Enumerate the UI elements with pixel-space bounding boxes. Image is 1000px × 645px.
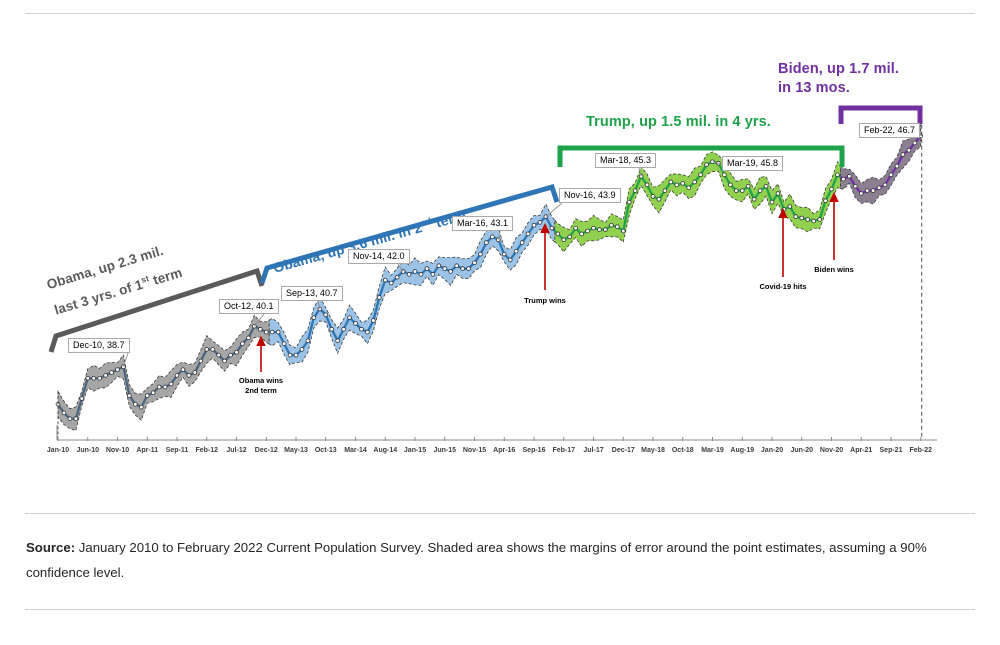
data-point-marker bbox=[752, 197, 756, 201]
event-label-line-1: Obama wins bbox=[239, 376, 283, 386]
event-biden-wins-label: Biden wins bbox=[814, 265, 854, 275]
data-point-marker bbox=[235, 350, 239, 354]
data-point-marker bbox=[734, 189, 738, 193]
data-point-marker bbox=[389, 281, 393, 285]
point-label-nov-14: Nov-14, 42.0 bbox=[348, 249, 410, 264]
point-label-mar-19: Mar-19, 45.8 bbox=[722, 156, 783, 171]
data-point-marker bbox=[895, 164, 899, 168]
data-point-marker bbox=[443, 267, 447, 271]
x-axis-label: Dec-12 bbox=[255, 447, 278, 455]
data-point-marker bbox=[127, 394, 131, 398]
data-point-marker bbox=[431, 272, 435, 276]
data-point-marker bbox=[609, 223, 613, 227]
data-point-marker bbox=[621, 229, 625, 233]
data-point-marker bbox=[479, 252, 483, 256]
data-point-marker bbox=[889, 173, 893, 177]
x-axis-label: Oct-13 bbox=[315, 447, 337, 455]
data-point-marker bbox=[217, 353, 221, 357]
x-axis-label: Jan-10 bbox=[47, 447, 69, 455]
event-label-line-2: 2nd term bbox=[239, 386, 283, 396]
data-point-marker bbox=[645, 183, 649, 187]
bracket-biden bbox=[841, 108, 920, 124]
data-point-marker bbox=[877, 186, 881, 190]
data-point-marker bbox=[788, 205, 792, 209]
data-point-marker bbox=[728, 183, 732, 187]
source-text: January 2010 to February 2022 Current Po… bbox=[26, 540, 927, 580]
data-point-marker bbox=[366, 330, 370, 334]
x-axis-label: Mar-14 bbox=[344, 447, 367, 455]
x-axis-label: Nov-10 bbox=[106, 447, 129, 455]
data-point-marker bbox=[776, 192, 780, 196]
event-trump-wins-label: Trump wins bbox=[524, 296, 566, 306]
x-axis-label: May-13 bbox=[284, 447, 308, 455]
data-point-marker bbox=[562, 238, 566, 242]
point-label-feb-22: Feb-22, 46.7 bbox=[859, 123, 920, 138]
data-point-marker bbox=[437, 264, 441, 268]
data-point-marker bbox=[705, 163, 709, 167]
data-point-marker bbox=[383, 278, 387, 282]
data-point-marker bbox=[883, 183, 887, 187]
data-point-marker bbox=[86, 376, 90, 380]
data-point-marker bbox=[699, 173, 703, 177]
x-axis-label: Feb-17 bbox=[552, 447, 575, 455]
data-point-marker bbox=[580, 232, 584, 236]
data-point-marker bbox=[675, 183, 679, 187]
data-point-marker bbox=[300, 348, 304, 352]
data-point-marker bbox=[467, 267, 471, 271]
x-axis-label: Jul-12 bbox=[226, 447, 246, 455]
data-point-marker bbox=[407, 272, 411, 276]
data-point-marker bbox=[853, 184, 857, 188]
data-point-marker bbox=[264, 330, 268, 334]
x-axis-label: Jan-20 bbox=[761, 447, 783, 455]
data-point-marker bbox=[657, 197, 661, 201]
data-point-marker bbox=[312, 316, 316, 320]
point-label-mar-18: Mar-18, 45.3 bbox=[595, 153, 656, 168]
x-axis-label: Jan-15 bbox=[404, 447, 426, 455]
x-axis-label: May-18 bbox=[641, 447, 665, 455]
data-point-marker bbox=[193, 371, 197, 375]
data-point-marker bbox=[907, 148, 911, 152]
data-point-marker bbox=[187, 373, 191, 377]
data-point-marker bbox=[485, 241, 489, 245]
data-point-marker bbox=[901, 153, 905, 157]
data-point-marker bbox=[241, 342, 245, 346]
data-point-marker bbox=[104, 373, 108, 377]
data-point-marker bbox=[211, 348, 215, 352]
data-point-marker bbox=[490, 235, 494, 239]
data-point-marker bbox=[627, 200, 631, 204]
annotation-line-1: Biden, up 1.7 mil. bbox=[778, 60, 899, 79]
data-point-marker bbox=[782, 207, 786, 211]
x-axis-label: Jun-20 bbox=[790, 447, 813, 455]
data-point-marker bbox=[693, 180, 697, 184]
divider-middle bbox=[25, 513, 975, 514]
x-axis-label: Dec-17 bbox=[612, 447, 635, 455]
data-point-marker bbox=[419, 272, 423, 276]
data-point-marker bbox=[258, 327, 262, 331]
data-point-marker bbox=[371, 319, 375, 323]
x-axis-label: Sep-21 bbox=[880, 447, 903, 455]
chart-canvas: Obama, up 2.3 mil. last 3 yrs. of 1st te… bbox=[0, 0, 1000, 500]
data-point-marker bbox=[532, 223, 536, 227]
data-point-marker bbox=[526, 232, 530, 236]
x-axis-label: Aug-14 bbox=[373, 447, 397, 455]
event-obama-wins-label: Obama wins2nd term bbox=[239, 376, 283, 395]
x-axis-label: Jul-17 bbox=[583, 447, 603, 455]
data-point-marker bbox=[818, 218, 822, 222]
event-label-line-1: Covid-19 hits bbox=[759, 282, 806, 292]
data-point-marker bbox=[746, 184, 750, 188]
point-label-nov-16: Nov-16, 43.9 bbox=[559, 188, 621, 203]
data-point-marker bbox=[74, 417, 78, 421]
data-point-marker bbox=[395, 275, 399, 279]
data-point-marker bbox=[847, 174, 851, 178]
data-point-marker bbox=[859, 192, 863, 196]
data-point-marker bbox=[800, 216, 804, 220]
x-axis-label: Nov-15 bbox=[463, 447, 486, 455]
data-point-marker bbox=[473, 261, 477, 265]
data-point-marker bbox=[568, 235, 572, 239]
data-point-marker bbox=[461, 267, 465, 271]
data-point-marker bbox=[145, 394, 149, 398]
data-point-marker bbox=[175, 373, 179, 377]
data-point-marker bbox=[449, 270, 453, 274]
data-point-marker bbox=[723, 173, 727, 177]
data-point-marker bbox=[62, 411, 66, 415]
data-point-marker bbox=[80, 397, 84, 401]
x-axis bbox=[57, 425, 937, 441]
data-point-marker bbox=[586, 229, 590, 233]
data-point-marker bbox=[354, 322, 358, 326]
data-point-marker bbox=[336, 339, 340, 343]
data-point-marker bbox=[223, 359, 227, 363]
data-point-marker bbox=[455, 264, 459, 268]
event-label-line-1: Trump wins bbox=[524, 296, 566, 306]
point-label-dec-10: Dec-10, 38.7 bbox=[68, 338, 130, 353]
data-point-marker bbox=[169, 382, 173, 386]
data-point-marker bbox=[205, 348, 209, 352]
data-point-marker bbox=[110, 371, 114, 375]
x-axis-label: Jun-10 bbox=[76, 447, 99, 455]
data-point-marker bbox=[663, 189, 667, 193]
data-point-marker bbox=[669, 180, 673, 184]
data-point-marker bbox=[842, 177, 846, 181]
data-point-marker bbox=[871, 189, 875, 193]
data-point-marker bbox=[740, 189, 744, 193]
data-point-marker bbox=[360, 327, 364, 331]
data-point-marker bbox=[651, 195, 655, 199]
data-point-marker bbox=[425, 267, 429, 271]
data-point-marker bbox=[824, 199, 828, 203]
data-point-marker bbox=[687, 186, 691, 190]
data-point-marker bbox=[681, 182, 685, 186]
data-point-marker bbox=[68, 417, 72, 421]
data-point-marker bbox=[598, 228, 602, 232]
data-point-marker bbox=[98, 376, 102, 380]
band-obama-first-term bbox=[58, 315, 269, 430]
data-point-marker bbox=[514, 249, 518, 253]
data-point-marker bbox=[157, 385, 161, 389]
data-point-marker bbox=[348, 316, 352, 320]
data-point-marker bbox=[770, 200, 774, 204]
data-point-marker bbox=[116, 368, 120, 372]
data-point-marker bbox=[92, 376, 96, 380]
data-point-marker bbox=[520, 241, 524, 245]
divider-bottom bbox=[25, 609, 975, 610]
data-point-marker bbox=[270, 330, 274, 334]
annotation-trump: Trump, up 1.5 mil. in 4 yrs. bbox=[586, 113, 771, 131]
event-covid-label: Covid-19 hits bbox=[759, 282, 806, 292]
data-point-marker bbox=[556, 232, 560, 236]
source-label: Source: bbox=[26, 540, 75, 555]
event-label-line-1: Biden wins bbox=[814, 265, 854, 275]
data-point-marker bbox=[758, 189, 762, 193]
data-point-marker bbox=[276, 330, 280, 334]
data-point-marker bbox=[592, 226, 596, 230]
point-label-oct-12: Oct-12, 40.1 bbox=[219, 299, 279, 314]
annotation-line-2: in 13 mos. bbox=[778, 79, 899, 98]
x-axis-label: Apr-11 bbox=[136, 447, 158, 455]
data-point-marker bbox=[764, 184, 768, 188]
data-point-marker bbox=[133, 402, 137, 406]
data-point-marker bbox=[229, 353, 233, 357]
data-point-marker bbox=[181, 368, 185, 372]
data-point-marker bbox=[550, 226, 554, 230]
x-axis-label: Feb-22 bbox=[909, 447, 932, 455]
data-point-marker bbox=[282, 342, 286, 346]
data-point-marker bbox=[151, 391, 155, 395]
x-axis-label: Nov-20 bbox=[820, 447, 843, 455]
x-axis-label: Apr-21 bbox=[850, 447, 872, 455]
point-label-sep-13: Sep-13, 40.7 bbox=[281, 286, 343, 301]
data-point-marker bbox=[615, 225, 619, 229]
data-point-marker bbox=[538, 220, 542, 224]
data-point-marker bbox=[633, 189, 637, 193]
x-axis-label: Feb-12 bbox=[195, 447, 218, 455]
margin-of-error-bands bbox=[58, 125, 921, 431]
data-point-marker bbox=[830, 187, 834, 191]
point-label-mar-16: Mar-16, 43.1 bbox=[452, 216, 513, 231]
data-point-marker bbox=[324, 313, 328, 317]
data-point-marker bbox=[294, 353, 298, 357]
data-point-marker bbox=[604, 228, 608, 232]
data-point-marker bbox=[342, 327, 346, 331]
data-point-marker bbox=[139, 405, 143, 409]
data-point-marker bbox=[913, 141, 917, 145]
data-point-marker bbox=[508, 258, 512, 262]
source-note: Source: January 2010 to February 2022 Cu… bbox=[26, 535, 936, 585]
data-point-marker bbox=[574, 226, 578, 230]
x-axis-label: Sep-16 bbox=[523, 447, 546, 455]
data-point-marker bbox=[306, 339, 310, 343]
data-point-marker bbox=[794, 215, 798, 219]
data-point-marker bbox=[288, 353, 292, 357]
data-point-marker bbox=[247, 336, 251, 340]
data-point-marker bbox=[812, 219, 816, 223]
x-axis-label: Aug-19 bbox=[730, 447, 754, 455]
data-point-marker bbox=[163, 385, 167, 389]
data-point-marker bbox=[199, 359, 203, 363]
data-point-marker bbox=[865, 189, 869, 193]
data-point-marker bbox=[806, 218, 810, 222]
data-point-marker bbox=[502, 252, 506, 256]
data-point-marker bbox=[330, 327, 334, 331]
x-axis-label: Mar-19 bbox=[701, 447, 724, 455]
x-axis-label: Sep-11 bbox=[166, 447, 189, 455]
data-point-marker bbox=[377, 296, 381, 300]
x-axis-label: Oct-18 bbox=[672, 447, 694, 455]
data-point-marker bbox=[413, 270, 417, 274]
x-axis-label: Jun-15 bbox=[433, 447, 456, 455]
x-axis-label: Apr-16 bbox=[493, 447, 515, 455]
data-point-marker bbox=[836, 173, 840, 177]
annotation-biden: Biden, up 1.7 mil. in 13 mos. bbox=[778, 60, 899, 98]
